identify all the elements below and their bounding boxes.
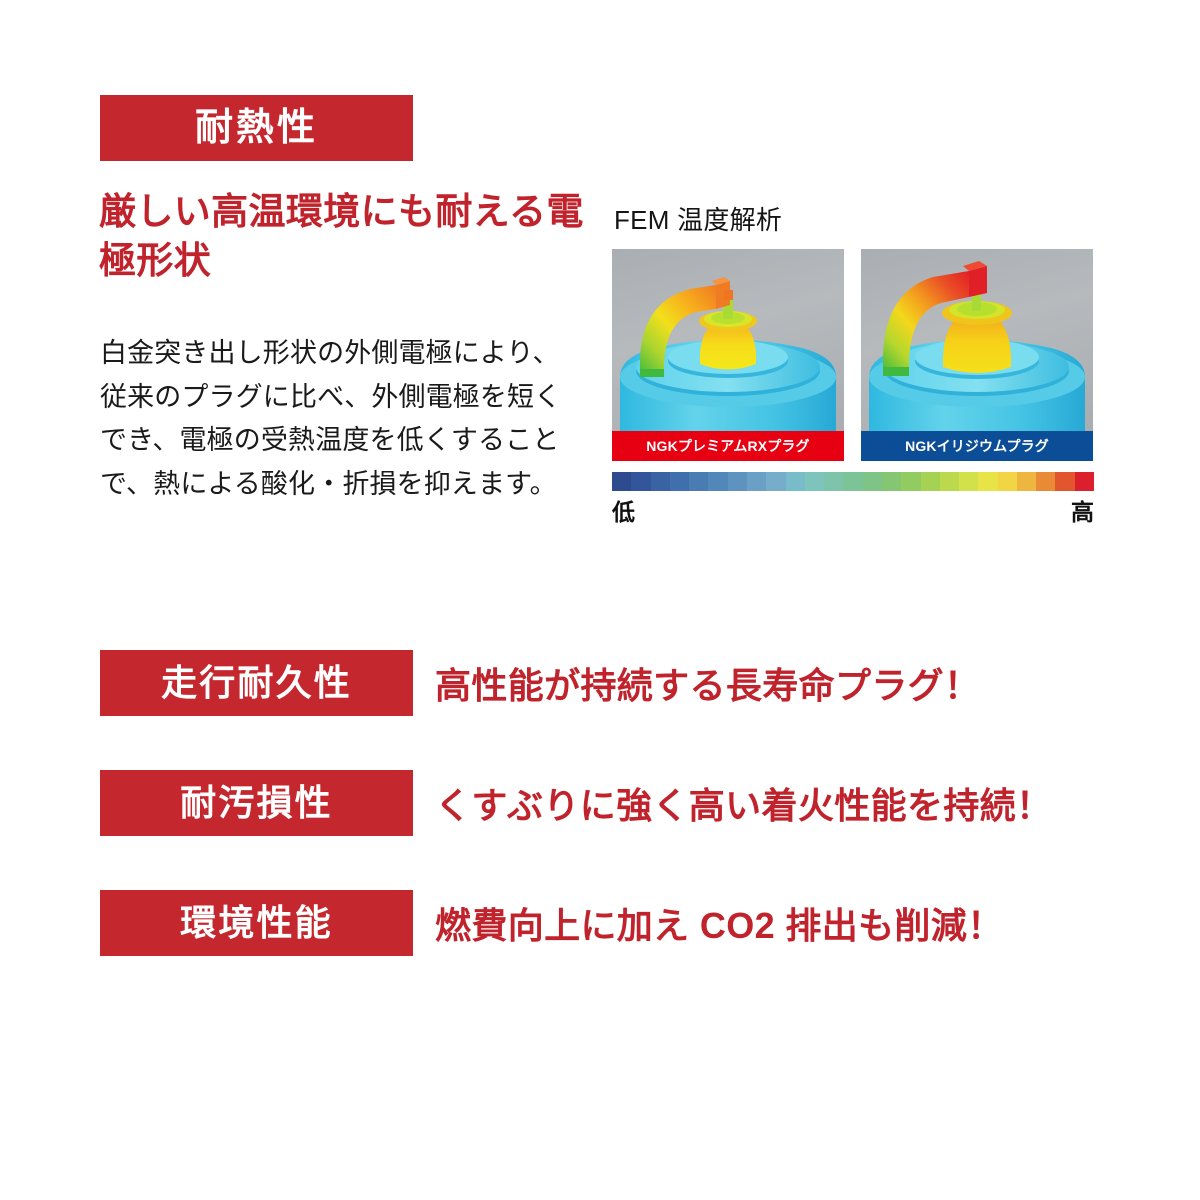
temperature-scale-labels: 低 高 — [612, 493, 1094, 527]
scale-step-22 — [1036, 472, 1055, 491]
scale-step-17 — [940, 472, 959, 491]
scale-label-low: 低 — [612, 493, 635, 527]
scale-step-11 — [824, 472, 843, 491]
scale-step-2 — [651, 472, 670, 491]
scale-step-5 — [708, 472, 727, 491]
fem-thermal-render-iridium — [861, 249, 1093, 461]
fem-analysis-block: FEM 温度解析 — [612, 200, 1094, 527]
feature-row-environmental: 環境性能 燃費向上に加え CO2 排出も削減！ — [100, 890, 1004, 956]
scale-step-6 — [728, 472, 747, 491]
feature-badge-durability: 走行耐久性 — [100, 650, 413, 716]
temperature-scale: 低 高 — [612, 472, 1094, 527]
scale-step-16 — [921, 472, 940, 491]
scale-step-20 — [998, 472, 1017, 491]
section-body-text: 白金突き出し形状の外側電極により、従来のプラグに比べ、外側電極を短くでき、電極の… — [100, 332, 582, 507]
scale-step-0 — [612, 472, 631, 491]
scale-step-7 — [747, 472, 766, 491]
scale-step-13 — [863, 472, 882, 491]
scale-step-23 — [1055, 472, 1074, 491]
fem-panel-label-premium-rx: NGKプレミアムRXプラグ — [612, 431, 844, 461]
scale-step-8 — [766, 472, 785, 491]
fem-panel-premium-rx: NGKプレミアムRXプラグ — [612, 249, 844, 461]
section-badge-heat-resistance: 耐熱性 — [100, 95, 413, 161]
feature-badge-environmental: 環境性能 — [100, 890, 413, 956]
feature-row-durability: 走行耐久性 高性能が持続する長寿命プラグ！ — [100, 650, 980, 716]
scale-step-3 — [670, 472, 689, 491]
temperature-scale-bar — [612, 472, 1094, 491]
scale-label-high: 高 — [1071, 493, 1094, 527]
fem-panel-pair: NGKプレミアムRXプラグ — [612, 249, 1094, 461]
feature-row-fouling-resistance: 耐汚損性 くすぶりに強く高い着火性能を持続！ — [100, 770, 1052, 836]
fem-caption: FEM 温度解析 — [612, 200, 1094, 237]
scale-step-18 — [959, 472, 978, 491]
feature-text-fouling-resistance: くすぶりに強く高い着火性能を持続！ — [435, 777, 1052, 829]
scale-step-12 — [843, 472, 862, 491]
scale-step-10 — [805, 472, 824, 491]
section-headline: 厳しい高温環境にも耐える電極形状 — [99, 188, 599, 286]
page-root: 耐熱性 厳しい高温環境にも耐える電極形状 白金突き出し形状の外側電極により、従来… — [0, 0, 1200, 1200]
fem-panel-label-iridium: NGKイリジウムプラグ — [861, 431, 1093, 461]
scale-step-21 — [1017, 472, 1036, 491]
scale-step-4 — [689, 472, 708, 491]
scale-step-19 — [978, 472, 997, 491]
scale-step-15 — [901, 472, 920, 491]
feature-text-environmental: 燃費向上に加え CO2 排出も削減！ — [435, 897, 1004, 949]
feature-badge-fouling-resistance: 耐汚損性 — [100, 770, 413, 836]
scale-step-9 — [786, 472, 805, 491]
fem-panel-iridium: NGKイリジウムプラグ — [861, 249, 1093, 461]
scale-step-1 — [631, 472, 650, 491]
fem-thermal-render-premium-rx — [612, 249, 844, 461]
feature-text-durability: 高性能が持続する長寿命プラグ！ — [435, 657, 980, 709]
scale-step-14 — [882, 472, 901, 491]
scale-step-24 — [1075, 472, 1094, 491]
